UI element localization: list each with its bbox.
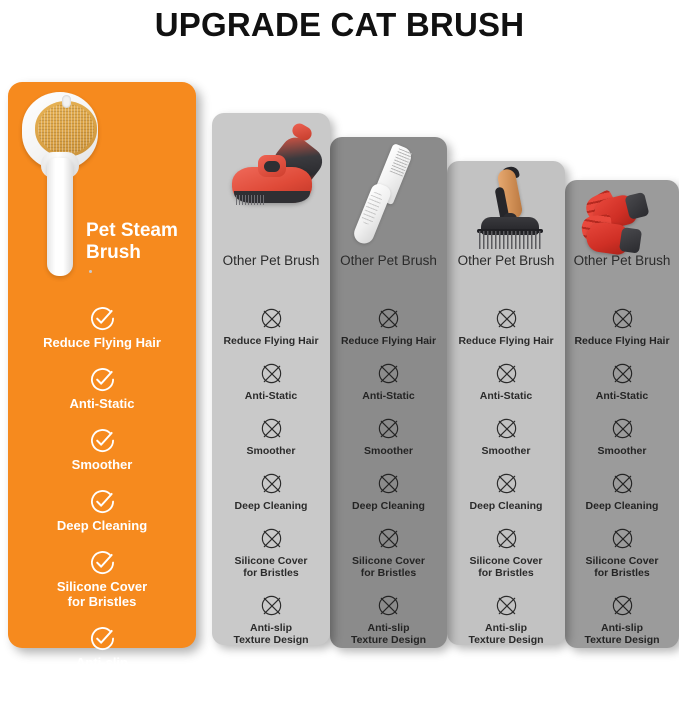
feature-row: Anti-Static bbox=[565, 361, 679, 402]
x-circle-icon bbox=[259, 361, 284, 386]
feature-row: Deep Cleaning bbox=[565, 471, 679, 512]
x-circle-icon bbox=[376, 471, 401, 496]
feature-row: Smoother bbox=[212, 416, 330, 457]
x-circle-icon bbox=[494, 593, 519, 618]
feature-list-other-2: Reduce Flying Hair Anti-Static Smoother … bbox=[212, 306, 330, 660]
feature-label: Deep Cleaning bbox=[352, 500, 425, 512]
feature-row: Silicone Cover for Bristles bbox=[330, 526, 447, 579]
feature-row: Reduce Flying Hair bbox=[565, 306, 679, 347]
feature-label: Deep Cleaning bbox=[470, 500, 543, 512]
x-circle-icon bbox=[494, 471, 519, 496]
product-column-other-2[interactable]: Other Pet Brush Reduce Flying Hair Anti-… bbox=[212, 113, 330, 645]
x-circle-icon bbox=[259, 306, 284, 331]
bristle-pad bbox=[35, 101, 97, 157]
feature-row: Smoother bbox=[565, 416, 679, 457]
feature-row: Silicone Cover for Bristles bbox=[212, 526, 330, 579]
feature-label: Anti-Static bbox=[362, 390, 415, 402]
x-circle-icon bbox=[259, 416, 284, 441]
feature-row: Silicone Cover for Bristles bbox=[447, 526, 565, 579]
glove-cuff bbox=[624, 192, 649, 220]
feature-label: Anti-slip Texture Design bbox=[56, 655, 149, 685]
brush-handle bbox=[47, 158, 73, 276]
check-circle-icon bbox=[90, 626, 115, 651]
feature-row: Anti-slip Texture Design bbox=[447, 593, 565, 646]
feature-label: Smoother bbox=[481, 445, 530, 457]
feature-row: Reduce Flying Hair bbox=[447, 306, 565, 347]
feature-row: Silicone Cover for Bristles bbox=[565, 526, 679, 579]
feature-row: Anti-Static bbox=[447, 361, 565, 402]
column-title-other-5: Other Pet Brush bbox=[565, 253, 679, 268]
feature-label: Deep Cleaning bbox=[57, 518, 147, 533]
feature-row: Anti-Static bbox=[8, 367, 196, 411]
product-column-other-3[interactable]: Other Pet Brush Reduce Flying Hair Anti-… bbox=[330, 137, 447, 648]
feature-list-hero: Reduce Flying Hair Anti-Static Smoother … bbox=[8, 306, 196, 702]
feature-label: Silicone Cover for Bristles bbox=[470, 555, 543, 579]
handle-indicator bbox=[89, 270, 92, 273]
feature-row: Anti-slip Texture Design bbox=[8, 626, 196, 685]
feature-row: Reduce Flying Hair bbox=[8, 306, 196, 350]
x-circle-icon bbox=[610, 526, 635, 551]
check-circle-icon bbox=[90, 367, 115, 392]
feature-list-other-5: Reduce Flying Hair Anti-Static Smoother … bbox=[565, 306, 679, 660]
x-circle-icon bbox=[259, 471, 284, 496]
x-circle-icon bbox=[610, 306, 635, 331]
x-circle-icon bbox=[494, 306, 519, 331]
feature-row: Smoother bbox=[447, 416, 565, 457]
feature-row: Anti-Static bbox=[330, 361, 447, 402]
feature-row: Deep Cleaning bbox=[447, 471, 565, 512]
feature-label: Anti-slip Texture Design bbox=[584, 622, 659, 646]
feature-label: Reduce Flying Hair bbox=[574, 335, 669, 347]
feature-label: Anti-slip Texture Design bbox=[233, 622, 308, 646]
feature-label: Smoother bbox=[597, 445, 646, 457]
x-circle-icon bbox=[610, 471, 635, 496]
release-button bbox=[62, 95, 71, 108]
product-column-other-5[interactable]: Other Pet Brush Reduce Flying Hair Anti-… bbox=[565, 180, 679, 648]
x-circle-icon bbox=[376, 526, 401, 551]
feature-row: Smoother bbox=[8, 428, 196, 472]
x-circle-icon bbox=[610, 593, 635, 618]
feature-row: Anti-slip Texture Design bbox=[212, 593, 330, 646]
feature-list-other-3: Reduce Flying Hair Anti-Static Smoother … bbox=[330, 306, 447, 660]
feature-label: Anti-Static bbox=[480, 390, 533, 402]
feature-label: Silicone Cover for Bristles bbox=[586, 555, 659, 579]
feature-row: Silicone Cover for Bristles bbox=[8, 550, 196, 609]
feature-label: Anti-Static bbox=[596, 390, 649, 402]
feature-label: Silicone Cover for Bristles bbox=[235, 555, 308, 579]
feature-row: Anti-Static bbox=[212, 361, 330, 402]
check-circle-icon bbox=[90, 550, 115, 575]
column-title-other-4: Other Pet Brush bbox=[447, 253, 565, 268]
column-title-other-2: Other Pet Brush bbox=[212, 253, 330, 268]
feature-row: Anti-slip Texture Design bbox=[330, 593, 447, 646]
x-circle-icon bbox=[259, 593, 284, 618]
glove-cuff bbox=[619, 227, 642, 254]
product-column-pet-steam-brush[interactable]: Pet Steam Brush Reduce Flying Hair Anti-… bbox=[8, 82, 196, 648]
x-circle-icon bbox=[494, 526, 519, 551]
rake-teeth bbox=[479, 231, 541, 249]
feature-label: Anti-slip Texture Design bbox=[351, 622, 426, 646]
feature-label: Smoother bbox=[364, 445, 413, 457]
feature-label: Reduce Flying Hair bbox=[223, 335, 318, 347]
check-circle-icon bbox=[90, 489, 115, 514]
column-title-other-3: Other Pet Brush bbox=[330, 253, 447, 268]
feature-list-other-4: Reduce Flying Hair Anti-Static Smoother … bbox=[447, 306, 565, 660]
comparison-board: Pet Steam Brush Reduce Flying Hair Anti-… bbox=[0, 50, 679, 659]
brush-bristles bbox=[236, 195, 266, 205]
x-circle-icon bbox=[376, 593, 401, 618]
feature-row: Deep Cleaning bbox=[212, 471, 330, 512]
feature-label: Reduce Flying Hair bbox=[43, 335, 161, 350]
column-title-hero: Pet Steam Brush bbox=[86, 220, 192, 264]
feature-label: Deep Cleaning bbox=[235, 500, 308, 512]
feature-label: Anti-Static bbox=[245, 390, 298, 402]
x-circle-icon bbox=[376, 416, 401, 441]
page-title: UPGRADE CAT BRUSH bbox=[0, 0, 679, 50]
x-circle-icon bbox=[494, 416, 519, 441]
feature-row: Reduce Flying Hair bbox=[330, 306, 447, 347]
product-column-other-4[interactable]: Other Pet Brush Reduce Flying Hair Anti-… bbox=[447, 161, 565, 645]
check-circle-icon bbox=[90, 306, 115, 331]
feature-label: Smoother bbox=[72, 457, 133, 472]
feature-label: Reduce Flying Hair bbox=[458, 335, 553, 347]
feature-row: Reduce Flying Hair bbox=[212, 306, 330, 347]
x-circle-icon bbox=[610, 361, 635, 386]
feature-row: Deep Cleaning bbox=[330, 471, 447, 512]
x-circle-icon bbox=[610, 416, 635, 441]
feature-label: Silicone Cover for Bristles bbox=[352, 555, 425, 579]
feature-row: Anti-slip Texture Design bbox=[565, 593, 679, 646]
feature-row: Smoother bbox=[330, 416, 447, 457]
feature-label: Deep Cleaning bbox=[586, 500, 659, 512]
x-circle-icon bbox=[494, 361, 519, 386]
feature-row: Deep Cleaning bbox=[8, 489, 196, 533]
x-circle-icon bbox=[259, 526, 284, 551]
feature-label: Anti-Static bbox=[70, 396, 135, 411]
check-circle-icon bbox=[90, 428, 115, 453]
x-circle-icon bbox=[376, 306, 401, 331]
brush-knob bbox=[264, 161, 280, 172]
feature-label: Smoother bbox=[246, 445, 295, 457]
feature-label: Silicone Cover for Bristles bbox=[57, 579, 147, 609]
x-circle-icon bbox=[376, 361, 401, 386]
feature-label: Reduce Flying Hair bbox=[341, 335, 436, 347]
feature-label: Anti-slip Texture Design bbox=[468, 622, 543, 646]
